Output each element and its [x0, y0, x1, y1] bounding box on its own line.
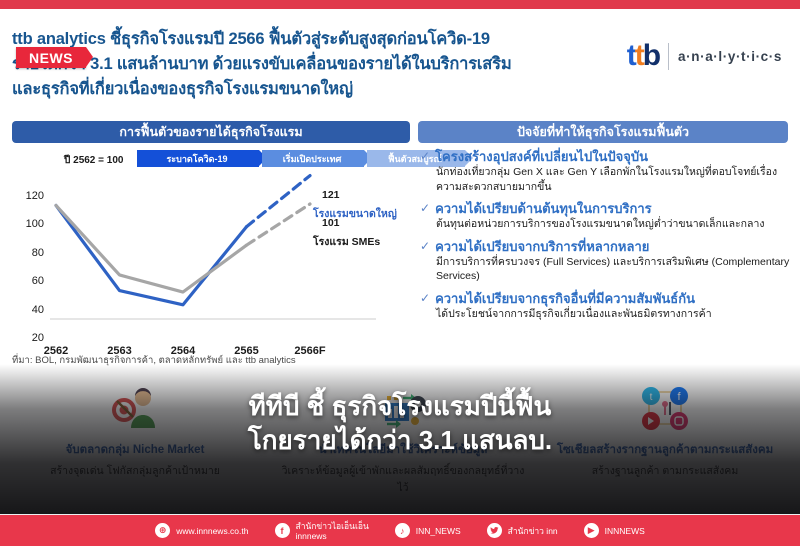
ttb-letter-b: b [643, 39, 659, 72]
ttb-letter-t2: t [635, 39, 643, 72]
footer-link-label: INN_NEWS [416, 526, 461, 536]
infographic-screenshot: ttb analytics ชี้ธุรกิจโรงแรมปี 2566 ฟื้… [0, 0, 800, 546]
factor-title: ความได้เปรียบด้านต้นทุนในการบริการ [435, 201, 652, 217]
card-subtitle: สร้างจุดเด่น โฟกัสกลุ่มลูกค้าเป้าหมาย [10, 462, 260, 479]
footer-link-website[interactable]: ⊕ www.innnews.co.th [155, 523, 248, 538]
chart-plot-area: 2040608010012025622563256425652566F121โร… [12, 169, 410, 339]
y-axis-tick: 100 [18, 218, 44, 230]
phase-timeline: ระบาดโควิด-19 เริ่มเปิดประเทศ ฟื้นตัวสมบ… [137, 150, 468, 167]
recovery-line-chart: ปี 2562 = 100 ระบาดโควิด-19 เริ่มเปิดประ… [12, 149, 410, 364]
overlay-headline: ทีทีบี ชี้ ธุรกิจโรงแรมปีนี้ฟื้น โกยรายไ… [0, 389, 800, 457]
youtube-icon: ▶ [584, 523, 599, 538]
news-badge: NEWS [16, 47, 86, 68]
y-axis-tick: 60 [18, 275, 44, 287]
top-red-strip [0, 0, 800, 9]
chart-series-solid [56, 205, 247, 292]
footer-link-facebook[interactable]: f สำนักข่าวไอเอ็นเอ็น innnews [275, 521, 369, 541]
footer-social-bar: ⊕ www.innnews.co.th f สำนักข่าวไอเอ็นเอ็… [0, 515, 800, 546]
factor-title: ความได้เปรียบจากธุรกิจอื่นที่มีความสัมพั… [435, 291, 695, 307]
twitter-icon [487, 523, 502, 538]
factors-list: ✓โครงสร้างอุปสงค์ที่เปลี่ยนไปในปัจจุบัน … [420, 149, 792, 328]
footer-link-tiktok[interactable]: ♪ INN_NEWS [395, 523, 461, 538]
factor-body: ต้นทุนต่อหน่วยการบริการของโรงแรมขนาดใหญ่… [436, 217, 792, 232]
chart-series-solid [56, 205, 247, 304]
chart-series-forecast [247, 176, 311, 227]
factor-item: ✓ความได้เปรียบด้านต้นทุนในการบริการ ต้นท… [420, 201, 792, 232]
chart-base-note: ปี 2562 = 100 [64, 153, 123, 168]
series-legend-label: โรงแรม SMEs [313, 233, 380, 250]
phase-chevron-1: ระบาดโควิด-19 [137, 150, 259, 167]
overlay-headline-line-2: โกยรายได้กว่า 3.1 แสนลบ. [0, 423, 800, 457]
headline-line-1: ttb analytics ชี้ธุรกิจโรงแรมปี 2566 ฟื้… [12, 27, 612, 52]
tiktok-icon: ♪ [395, 523, 410, 538]
y-axis-tick: 20 [18, 332, 44, 344]
series-end-value: 101 [322, 217, 340, 229]
ttb-wordmark: ttb [627, 41, 659, 71]
globe-icon: ⊕ [155, 523, 170, 538]
footer-link-label: INNNEWS [605, 526, 645, 536]
y-axis-tick: 40 [18, 304, 44, 316]
factor-body: มีการบริการที่ครบวงจร (Full Services) แล… [436, 255, 792, 284]
card-subtitle: สร้างฐานลูกค้า ตามกระแสสังคม [540, 462, 790, 479]
headline-line-3: และธุรกิจที่เกี่ยวเนื่องของธุรกิจโรงแรมข… [12, 77, 612, 102]
facebook-icon: f [275, 523, 290, 538]
footer-link-twitter[interactable]: สำนักข่าว inn [487, 523, 558, 538]
footer-link-label: www.innnews.co.th [176, 526, 248, 536]
overlay-headline-line-1: ทีทีบี ชี้ ธุรกิจโรงแรมปีนี้ฟื้น [0, 389, 800, 423]
chart-panel-header: การฟื้นตัวของรายได้ธุรกิจโรงแรม [12, 121, 410, 143]
factor-body: ได้ประโยชน์จากการมีธุรกิจเกี่ยวเนื่องและ… [436, 307, 792, 322]
page-title: ttb analytics ชี้ธุรกิจโรงแรมปี 2566 ฟื้… [12, 27, 612, 102]
ttb-analytics-logo: ttb a·n·a·l·y·t·i·c·s [627, 41, 782, 71]
footer-link-label: สำนักข่าวไอเอ็นเอ็น innnews [296, 521, 369, 541]
factor-item: ✓โครงสร้างอุปสงค์ที่เปลี่ยนไปในปัจจุบัน … [420, 149, 792, 194]
factor-item: ✓ความได้เปรียบจากธุรกิจอื่นที่มีความสัมพ… [420, 291, 792, 322]
y-axis-tick: 120 [18, 190, 44, 202]
analytics-wordmark: a·n·a·l·y·t·i·c·s [678, 49, 782, 64]
footer-link-youtube[interactable]: ▶ INNNEWS [584, 523, 645, 538]
factor-body: นักท่องเที่ยวกลุ่ม Gen X และ Gen Y เลือก… [436, 165, 792, 194]
check-icon: ✓ [420, 239, 430, 254]
series-end-value: 121 [322, 189, 340, 201]
logo-divider [668, 43, 669, 70]
factor-item: ✓ความได้เปรียบจากบริการที่หลากหลาย มีการ… [420, 239, 792, 284]
y-axis-tick: 80 [18, 247, 44, 259]
factor-title: โครงสร้างอุปสงค์ที่เปลี่ยนไปในปัจจุบัน [435, 149, 648, 165]
card-subtitle: วิเคราะห์ข้อมูลผู้เข้าพักและผลสัมฤทธิ์ขอ… [278, 462, 528, 496]
infographic-card: ttb analytics ชี้ธุรกิจโรงแรมปี 2566 ฟื้… [0, 9, 800, 515]
check-icon: ✓ [420, 149, 430, 164]
phase-chevron-2: เริ่มเปิดประเทศ [262, 150, 364, 167]
chart-series-forecast [247, 204, 311, 245]
headline-line-2: รายได้กว่า 3.1 แสนล้านบาท ด้วยแรงขับเคลื… [12, 52, 612, 77]
footer-link-label: สำนักข่าว inn [508, 526, 558, 536]
ttb-letter-t1: t [627, 39, 635, 72]
check-icon: ✓ [420, 201, 430, 216]
chart-svg [12, 169, 410, 339]
check-icon: ✓ [420, 291, 430, 306]
factors-panel-header: ปัจจัยที่ทำให้ธุรกิจโรงแรมฟื้นตัว [418, 121, 788, 143]
chart-source: ที่มา: BOL, กรมพัฒนาธุรกิจการค้า, ตลาดหล… [12, 353, 412, 368]
factor-title: ความได้เปรียบจากบริการที่หลากหลาย [435, 239, 649, 255]
